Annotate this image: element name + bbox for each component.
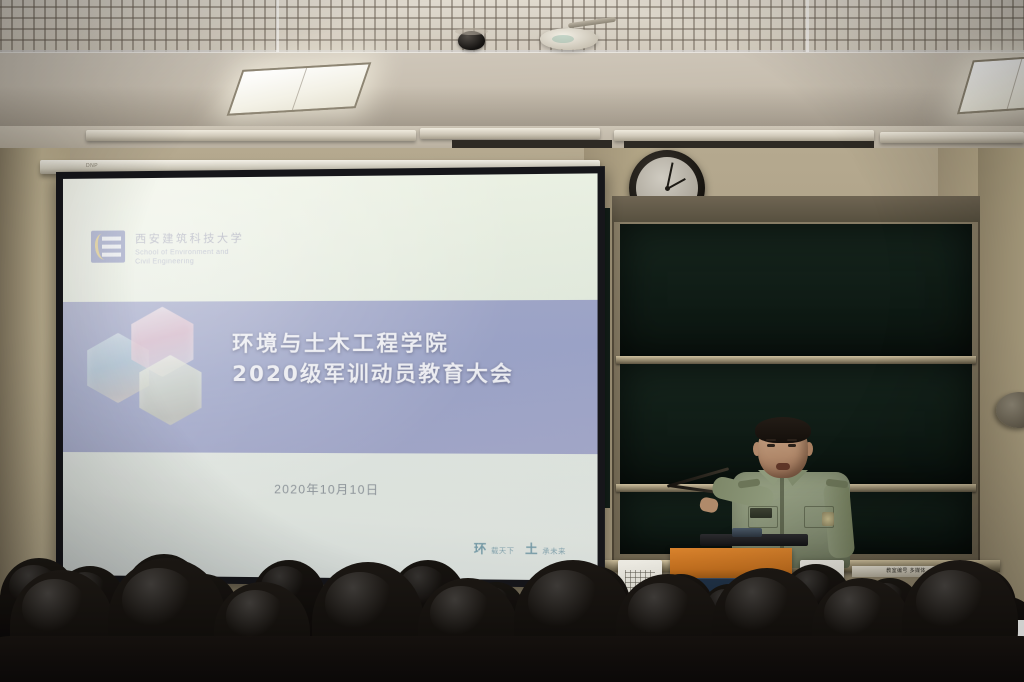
ceiling-seam [0,50,1024,53]
blackboard-panel [620,224,972,356]
audience-head-highlight [824,586,886,640]
eye [767,444,775,447]
audience-head-highlight [528,570,601,633]
audience-head-highlight [916,570,988,633]
mouth [776,463,790,470]
audience-head-highlight [430,586,492,640]
ceiling-rail [86,130,416,141]
slide-title-block: 环境与土木工程学院 2020级军训动员教育大会 [232,328,573,390]
dome-camera-icon [458,31,485,50]
audience-shoulders [858,636,1024,682]
audience-head-highlight [122,568,195,632]
recessed-ceiling-light [957,54,1024,115]
ceiling-rail [420,128,600,139]
ceiling-seam [806,0,809,52]
audience-head-highlight [22,579,86,637]
eyebrow [766,439,776,441]
smoke-detector-icon [540,28,598,50]
acoustic-panel-band [0,0,1024,52]
hex-photo-cluster [87,306,208,417]
clock-center-pin [665,186,670,191]
screen-brand-label: DNP [86,163,98,169]
audience-head-highlight [226,590,286,642]
audience-head [902,560,1018,682]
eyebrow [787,439,797,441]
blackboard-track [616,356,976,364]
slide-date: 2020年10月10日 [63,479,598,499]
blackboard-header [612,196,980,222]
audience [0,502,1024,682]
ceiling-seam [276,0,279,52]
audience-head-highlight [725,577,793,636]
audience-head-highlight [325,572,394,634]
slide-title-line1: 环境与土木工程学院 [232,328,573,359]
recessed-ceiling-light [227,62,372,116]
lecture-hall-photo: 教室编号 多媒体 DNP 西安建筑科技大学 School of Environm… [0,0,1024,682]
hair [755,417,811,443]
university-logo-icon [91,230,125,262]
ceiling-rail [614,130,874,141]
eye [788,444,796,447]
university-name-cn: 西安建筑科技大学 [135,230,244,247]
audience-head-highlight [628,583,692,639]
slide-title-line2: 2020级军训动员教育大会 [232,359,573,390]
school-name-en-line2: Civil Engineering [135,257,244,267]
ceiling-rail [880,132,1024,143]
slide-logo-lockup: 西安建筑科技大学 School of Environment and Civil… [91,230,244,267]
